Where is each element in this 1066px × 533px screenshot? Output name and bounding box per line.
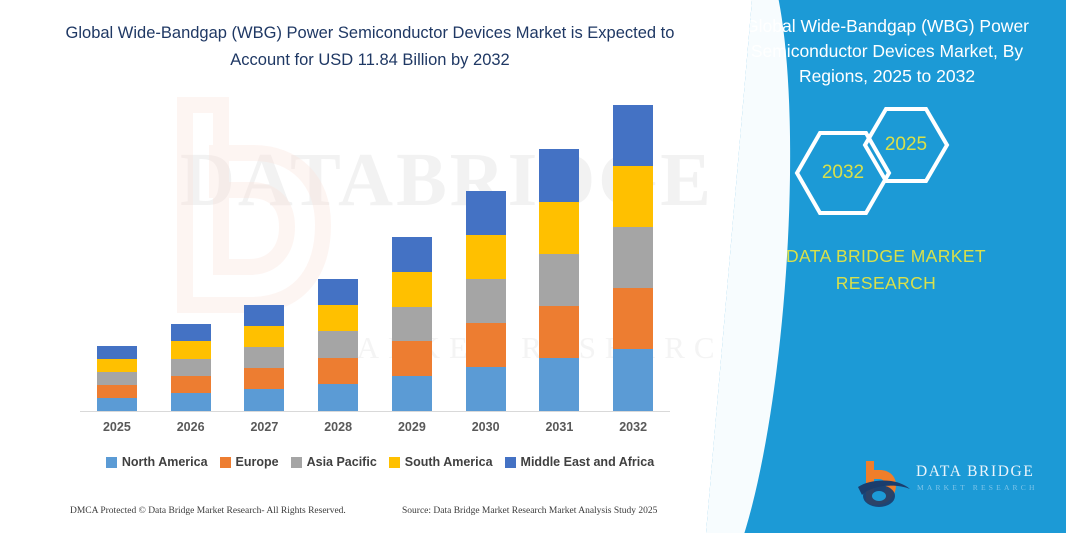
chart-bar-segment bbox=[244, 326, 284, 347]
chart-bar-segment bbox=[318, 358, 358, 384]
chart-bar-segment bbox=[613, 349, 653, 410]
chart-x-axis: 20252026202720282029203020312032 bbox=[80, 420, 670, 434]
chart-legend: North AmericaEuropeAsia PacificSouth Ame… bbox=[80, 455, 680, 469]
chart-bar-segment bbox=[318, 331, 358, 357]
chart-bar-segment bbox=[97, 385, 137, 398]
legend-label: South America bbox=[405, 455, 493, 469]
chart-bar bbox=[539, 149, 579, 410]
legend-item[interactable]: North America bbox=[106, 455, 208, 469]
x-axis-tick-label: 2025 bbox=[97, 420, 137, 434]
chart-bar-segment bbox=[392, 307, 432, 342]
x-axis-tick-label: 2028 bbox=[318, 420, 358, 434]
chart-bar-segment bbox=[466, 191, 506, 234]
x-axis-tick-label: 2027 bbox=[244, 420, 284, 434]
chart-bar-segment bbox=[171, 341, 211, 358]
page-title: Global Wide-Bandgap (WBG) Power Semicond… bbox=[60, 20, 680, 74]
infographic-canvas: DATABRIDGE MARKET RESEARCH Global Wide-B… bbox=[0, 0, 1066, 533]
chart-bar-segment bbox=[613, 166, 653, 227]
legend-swatch-icon bbox=[220, 457, 231, 468]
chart-bar bbox=[466, 191, 506, 410]
footer: DMCA Protected © Data Bridge Market Rese… bbox=[0, 506, 720, 528]
chart-bars bbox=[80, 101, 670, 411]
chart-bar-segment bbox=[466, 367, 506, 411]
x-axis-tick-label: 2029 bbox=[392, 420, 432, 434]
chart-baseline bbox=[80, 411, 670, 413]
chart-bar-segment bbox=[539, 306, 579, 358]
chart-bar-segment bbox=[97, 398, 137, 411]
chart-bar-segment bbox=[318, 305, 358, 331]
legend-item[interactable]: Europe bbox=[220, 455, 279, 469]
chart-bar-segment bbox=[539, 202, 579, 254]
footer-copyright: DMCA Protected © Data Bridge Market Rese… bbox=[70, 506, 346, 516]
chart-bar-segment bbox=[244, 368, 284, 389]
chart-bar-segment bbox=[244, 305, 284, 326]
chart-bar-segment bbox=[466, 323, 506, 367]
chart-bar-segment bbox=[244, 389, 284, 410]
legend-swatch-icon bbox=[106, 457, 117, 468]
legend-label: North America bbox=[122, 455, 208, 469]
chart-bar-segment bbox=[392, 376, 432, 411]
chart-bar bbox=[244, 305, 284, 411]
stacked-bar-chart bbox=[80, 100, 670, 412]
chart-bar-segment bbox=[97, 346, 137, 359]
hexagon-label-back: 2032 bbox=[822, 162, 864, 184]
x-axis-tick-label: 2030 bbox=[466, 420, 506, 434]
chart-bar-segment bbox=[539, 358, 579, 410]
chart-bar-segment bbox=[97, 372, 137, 385]
chart-bar bbox=[613, 105, 653, 411]
chart-bar-segment bbox=[171, 393, 211, 410]
panel-title: Global Wide-Bandgap (WBG) Power Semicond… bbox=[732, 14, 1042, 89]
legend-item[interactable]: Asia Pacific bbox=[291, 455, 377, 469]
x-axis-tick-label: 2026 bbox=[171, 420, 211, 434]
hexagon-label-front: 2025 bbox=[885, 134, 927, 156]
hexagon-badge-2025: 2025 bbox=[862, 106, 950, 184]
chart-bar bbox=[392, 237, 432, 411]
chart-bar-segment bbox=[613, 105, 653, 166]
legend-item[interactable]: Middle East and Africa bbox=[505, 455, 655, 469]
logo-text-primary: DATA BRIDGE bbox=[916, 463, 1034, 481]
chart-bar-segment bbox=[318, 279, 358, 305]
chart-bar-segment bbox=[171, 376, 211, 393]
legend-swatch-icon bbox=[505, 457, 516, 468]
chart-bar-segment bbox=[244, 347, 284, 368]
chart-bar-segment bbox=[171, 359, 211, 376]
legend-label: Asia Pacific bbox=[307, 455, 377, 469]
legend-item[interactable]: South America bbox=[389, 455, 493, 469]
legend-swatch-icon bbox=[291, 457, 302, 468]
footer-source: Source: Data Bridge Market Research Mark… bbox=[402, 506, 657, 516]
x-axis-tick-label: 2031 bbox=[539, 420, 579, 434]
chart-bar-segment bbox=[392, 237, 432, 272]
hexagon-badges: 2032 2025 bbox=[706, 108, 1066, 213]
chart-bar bbox=[171, 324, 211, 411]
chart-bar bbox=[318, 279, 358, 410]
legend-swatch-icon bbox=[389, 457, 400, 468]
chart-bar-segment bbox=[318, 384, 358, 410]
logo-mark-icon bbox=[856, 457, 912, 509]
brand-name: DATA BRIDGE MARKET RESEARCH bbox=[736, 243, 1036, 297]
chart-bar bbox=[97, 346, 137, 411]
chart-bar-segment bbox=[392, 341, 432, 376]
chart-bar-segment bbox=[466, 279, 506, 323]
legend-label: Middle East and Africa bbox=[521, 455, 655, 469]
chart-bar-segment bbox=[539, 149, 579, 202]
right-blue-panel: Global Wide-Bandgap (WBG) Power Semicond… bbox=[706, 0, 1066, 533]
legend-label: Europe bbox=[236, 455, 279, 469]
chart-bar-segment bbox=[613, 288, 653, 349]
chart-bar-segment bbox=[466, 235, 506, 279]
logo-text-secondary: MARKET RESEARCH bbox=[917, 483, 1038, 492]
chart-bar-segment bbox=[539, 254, 579, 306]
chart-bar-segment bbox=[97, 359, 137, 372]
chart-bar-segment bbox=[613, 227, 653, 288]
x-axis-tick-label: 2032 bbox=[613, 420, 653, 434]
chart-bar-segment bbox=[392, 272, 432, 307]
data-bridge-logo: DATA BRIDGE MARKET RESEARCH bbox=[856, 457, 1056, 513]
chart-bar-segment bbox=[171, 324, 211, 342]
